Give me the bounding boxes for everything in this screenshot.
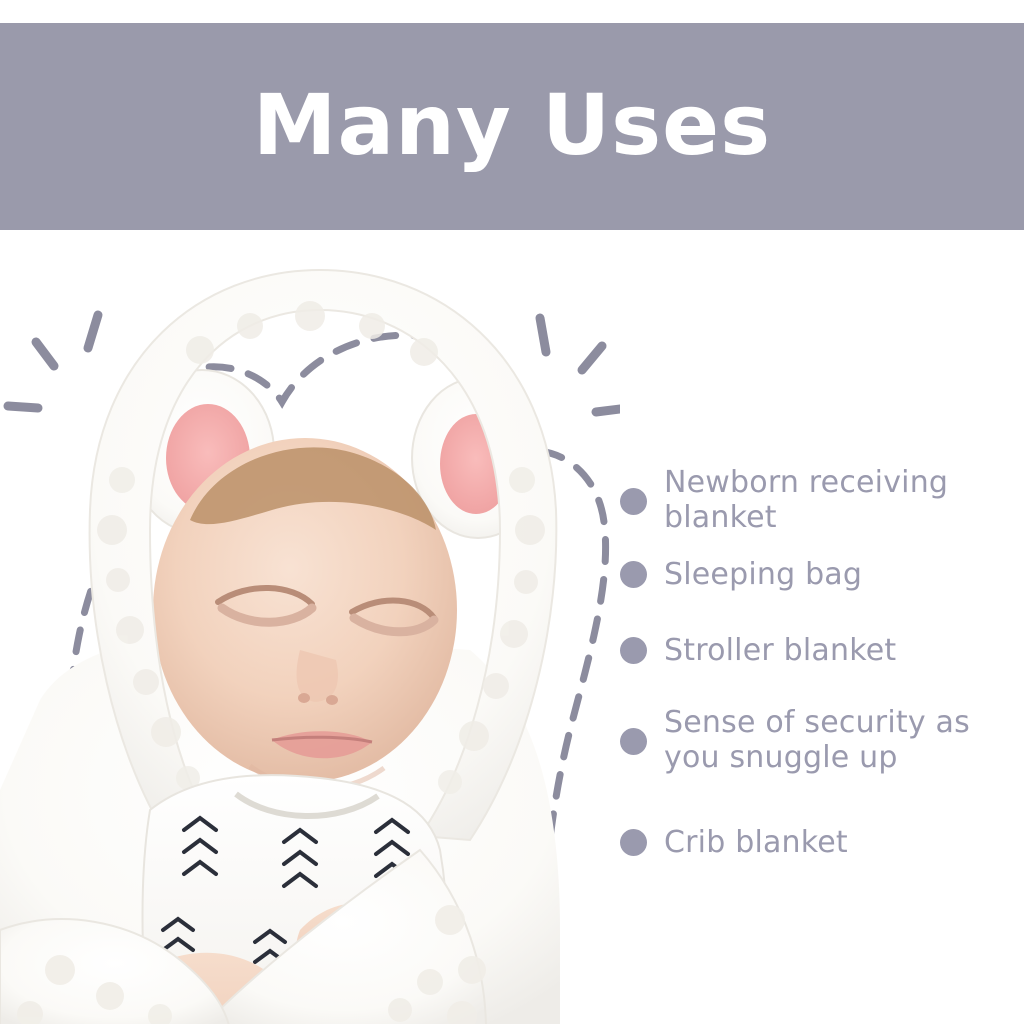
bullet-dot-icon — [620, 488, 647, 515]
list-item[interactable]: Sense of security as you snuggle up — [620, 705, 1014, 776]
page-title: Many Uses — [253, 83, 771, 167]
header-banner: Many Uses — [0, 23, 1024, 230]
infographic-page: Many Uses — [0, 0, 1024, 1024]
list-item-label: Sleeping bag — [664, 557, 1014, 592]
list-item-label: Crib blanket — [664, 825, 1014, 860]
product-photo — [0, 230, 620, 1024]
sparkle-marks-left — [8, 315, 98, 408]
bullet-dot-icon — [620, 637, 647, 664]
list-item-label: Stroller blanket — [664, 633, 1014, 668]
list-item-label: Sense of security as you snuggle up — [664, 705, 1014, 776]
list-item[interactable]: Sleeping bag — [620, 557, 1014, 592]
list-item-label: Newborn receiving blanket — [664, 465, 1014, 536]
list-item[interactable]: Crib blanket — [620, 825, 1014, 860]
bullet-dot-icon — [620, 829, 647, 856]
list-item[interactable]: Newborn receiving blanket — [620, 465, 1014, 536]
list-item[interactable]: Stroller blanket — [620, 633, 1014, 668]
baby-photo-illustration — [0, 230, 620, 1024]
sparkle-marks-right — [540, 318, 620, 412]
bullet-dot-icon — [620, 728, 647, 755]
bullet-dot-icon — [620, 561, 647, 588]
